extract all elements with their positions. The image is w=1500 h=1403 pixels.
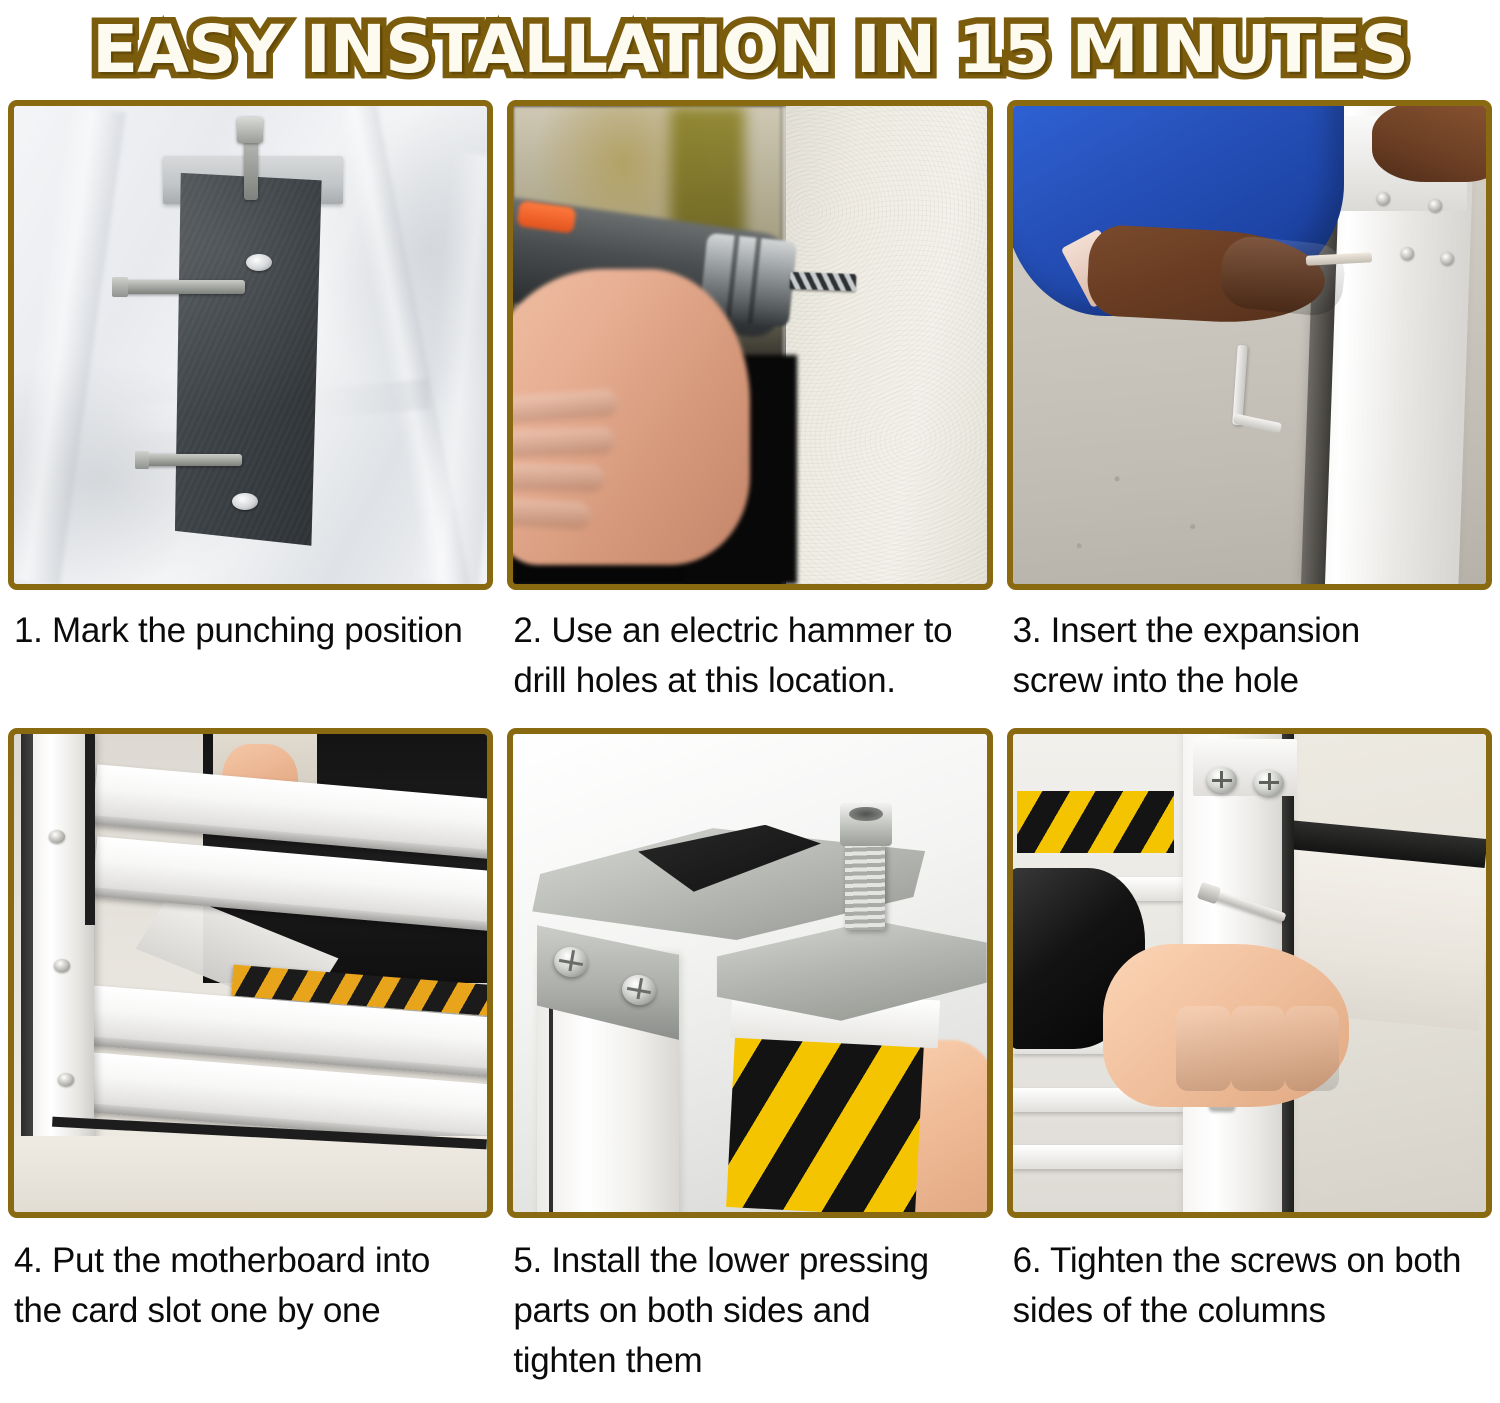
steps-grid-row-1: 1. Mark the punching position: [0, 100, 1500, 706]
mounting-post: [175, 173, 322, 546]
install-lower-pressing-parts-photo: [513, 734, 986, 1212]
column-screw: [1401, 247, 1414, 260]
top-bolt-head: [237, 117, 263, 143]
step-card-4: 4. Put the motherboard into the card slo…: [8, 728, 493, 1386]
step-6-photo-frame: [1007, 728, 1492, 1218]
column-screw: [1441, 252, 1454, 265]
middle-bolt: [120, 280, 245, 294]
finger: [1231, 1006, 1285, 1091]
step-4-photo-frame: [8, 728, 493, 1218]
textured-wall: [786, 106, 987, 584]
step-6-caption: 6. Tighten the screws on both sides of t…: [1007, 1218, 1492, 1336]
card-slot-gap: [85, 734, 95, 925]
step-card-3: 3. Insert the expansion screw into the h…: [1007, 100, 1492, 706]
drill-bit: [790, 272, 857, 292]
finger: [513, 426, 615, 457]
insert-motherboard-photo: [14, 734, 487, 1212]
bolt-thread: [845, 844, 885, 930]
column-screw: [49, 830, 65, 843]
step-card-6: 6. Tighten the screws on both sides of t…: [1007, 728, 1492, 1386]
panel-board: [1013, 1145, 1183, 1169]
operator-hand: [513, 269, 750, 565]
step-3-photo-frame: [1007, 100, 1492, 590]
page-title: EASY INSTALLATION IN 15 MINUTES: [92, 14, 1408, 86]
step-card-5: 5. Install the lower pressing parts on b…: [507, 728, 992, 1386]
step-card-2: 2. Use an electric hammer to drill holes…: [507, 100, 992, 706]
step-5-caption: 5. Install the lower pressing parts on b…: [507, 1218, 992, 1386]
step-1-photo-frame: [8, 100, 493, 590]
step-2-photo-frame: [507, 100, 992, 590]
finger: [1176, 1006, 1230, 1091]
finger: [513, 497, 591, 529]
floor: [14, 1136, 487, 1212]
lower-hole: [232, 493, 258, 510]
worker-fingers: [1218, 234, 1348, 318]
finger: [513, 463, 604, 492]
tighten-column-screws-photo: [1013, 734, 1486, 1212]
column-screw: [58, 1073, 74, 1086]
finger: [1285, 1006, 1339, 1091]
installer-hand: [1103, 944, 1349, 1107]
phillips-screw: [1254, 770, 1284, 796]
step-5-photo-frame: [507, 728, 992, 1218]
hazard-stripe: [1017, 791, 1173, 853]
step-4-caption: 4. Put the motherboard into the card slo…: [8, 1218, 493, 1336]
worker-upper-arm: [1372, 106, 1486, 182]
drill-holes-photo: [513, 106, 986, 584]
bolt-head: [840, 803, 892, 846]
steps-grid-row-2: 4. Put the motherboard into the card slo…: [0, 728, 1500, 1386]
column-screw: [54, 959, 70, 972]
step-card-1: 1. Mark the punching position: [8, 100, 493, 706]
step-3-caption: 3. Insert the expansion screw into the h…: [1007, 590, 1492, 706]
insert-expansion-screw-photo: [1013, 106, 1486, 584]
finger: [513, 389, 618, 424]
mark-punching-position-photo: [14, 106, 487, 584]
cloth-crease: [14, 106, 126, 584]
step-1-caption: 1. Mark the punching position: [8, 590, 493, 656]
banner-title-bar: EASY INSTALLATION IN 15 MINUTES: [0, 0, 1500, 100]
lower-bolt: [142, 454, 242, 466]
upper-hole: [246, 254, 272, 271]
row-spacer: [0, 706, 1500, 728]
step-2-caption: 2. Use an electric hammer to drill holes…: [507, 590, 992, 706]
